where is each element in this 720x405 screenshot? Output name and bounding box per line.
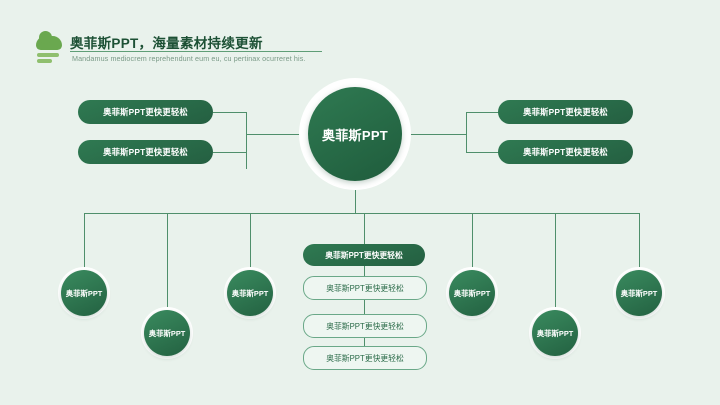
branch-pill-left-2[interactable]: 奥菲斯PPT更快更轻松 [78,140,213,164]
bottom-node-5[interactable]: 奥菲斯PPT [532,310,578,356]
connector-left-top-branch [213,112,247,113]
bottom-node-3[interactable]: 奥菲斯PPT [227,270,273,316]
branch-pill-right-1[interactable]: 奥菲斯PPT更快更轻松 [498,100,633,124]
center-stack-pill-4[interactable]: 奥菲斯PPT更快更轻松 [303,346,427,370]
page-title: 奥菲斯PPT，海量素材持续更新 [70,32,263,52]
connector-left-to-center [246,134,300,135]
bottom-node-6[interactable]: 奥菲斯PPT [616,270,662,316]
connector-drop-3 [250,213,251,270]
connector-left-vertical [246,112,247,169]
connector-center-down [355,190,356,213]
connector-right-vertical [466,112,467,153]
bottom-node-1[interactable]: 奥菲斯PPT [61,270,107,316]
center-stack-pill-1[interactable]: 奥菲斯PPT更快更轻松 [303,244,425,266]
connector-drop-6 [639,213,640,270]
logo-bar-bottom [37,59,52,63]
connector-drop-4 [472,213,473,270]
branch-pill-right-2[interactable]: 奥菲斯PPT更快更轻松 [498,140,633,164]
cloud-logo-icon [36,36,62,66]
branch-pill-left-1[interactable]: 奥菲斯PPT更快更轻松 [78,100,213,124]
bottom-node-2[interactable]: 奥菲斯PPT [144,310,190,356]
center-stack-pill-3[interactable]: 奥菲斯PPT更快更轻松 [303,314,427,338]
connector-right-top-branch [466,112,499,113]
connector-drop-1 [84,213,85,270]
center-node[interactable]: 奥菲斯PPT [308,87,402,181]
title-underline [70,51,322,52]
connector-drop-center-stack [364,213,365,244]
connector-stack-2-3 [364,298,365,314]
connector-drop-2 [167,213,168,310]
connector-left-bottom-branch [213,152,247,153]
connector-right-bottom-branch [466,152,499,153]
slide-header: 奥菲斯PPT，海量素材持续更新 Mandamus mediocrem repre… [36,32,676,70]
connector-drop-5 [555,213,556,310]
slide-canvas: 奥菲斯PPT，海量素材持续更新 Mandamus mediocrem repre… [0,0,720,405]
bottom-node-4[interactable]: 奥菲斯PPT [449,270,495,316]
logo-bar-top [37,53,59,57]
page-subtitle: Mandamus mediocrem reprehendunt eum eu, … [72,54,306,63]
connector-center-to-right [410,134,466,135]
center-stack-pill-2[interactable]: 奥菲斯PPT更快更轻松 [303,276,427,300]
connector-stack-1-2 [364,266,365,276]
cloud-shape [36,36,62,50]
